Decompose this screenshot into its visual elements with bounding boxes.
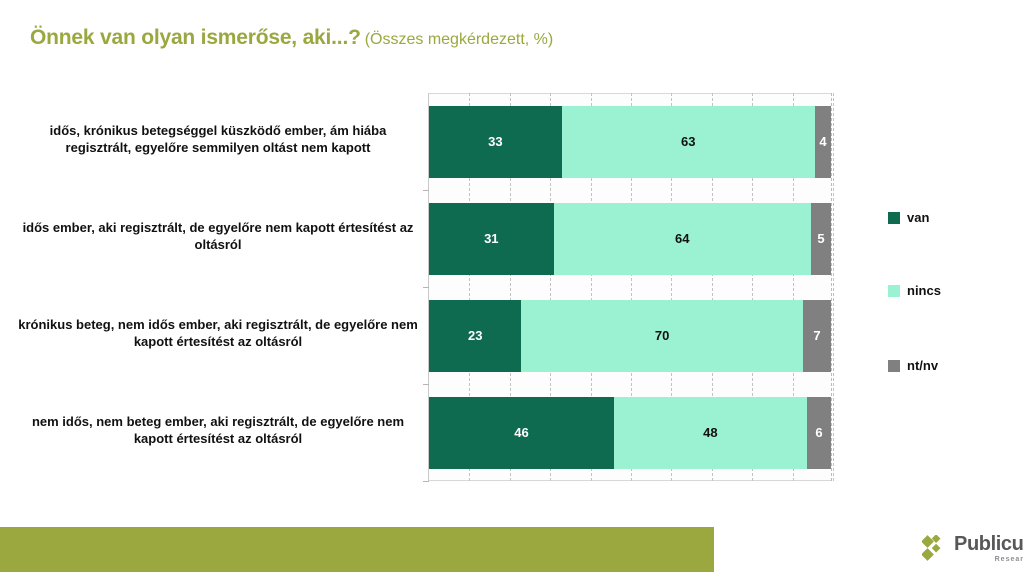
- bar-row[interactable]: 33634: [429, 106, 831, 178]
- gridline: [833, 93, 834, 481]
- bar-segment-nincs[interactable]: 64: [554, 203, 811, 275]
- category-label: idős ember, aki regisztrált, de egyelőre…: [18, 219, 418, 254]
- legend-item-nincs[interactable]: nincs: [888, 283, 941, 298]
- logo-tagline-text: Research: [954, 556, 1024, 563]
- publicus-logo: Publicus Research: [922, 534, 1024, 563]
- bar-row[interactable]: 23707: [429, 300, 831, 372]
- page-title: Önnek van olyan ismerőse, aki...?(Összes…: [30, 26, 553, 50]
- slide-canvas: Önnek van olyan ismerőse, aki...?(Összes…: [0, 0, 1024, 572]
- category-label: nem idős, nem beteg ember, aki regisztrá…: [18, 413, 418, 448]
- bar-segment-nincs[interactable]: 63: [562, 106, 815, 178]
- category-axis-labels: idős, krónikus betegséggel küszködő embe…: [18, 88, 418, 488]
- bar-segment-nt-nv[interactable]: 5: [811, 203, 831, 275]
- legend-swatch-icon: [888, 212, 900, 224]
- bar-segment-nt-nv[interactable]: 7: [803, 300, 831, 372]
- category-label: krónikus beteg, nem idős ember, aki regi…: [18, 316, 418, 351]
- legend-swatch-icon: [888, 360, 900, 372]
- category-label: idős, krónikus betegséggel küszködő embe…: [18, 122, 418, 157]
- bar-segment-van[interactable]: 33: [429, 106, 562, 178]
- category-tick: [423, 384, 429, 385]
- diamond-cluster-icon: [922, 535, 948, 563]
- legend-label: nincs: [907, 283, 941, 298]
- logo-name-text: Publicus: [954, 534, 1024, 554]
- bar-segment-nt-nv[interactable]: 4: [815, 106, 831, 178]
- logo-wordmark: Publicus Research: [954, 534, 1024, 563]
- category-tick: [423, 287, 429, 288]
- legend-label: van: [907, 210, 929, 225]
- bar-row[interactable]: 46486: [429, 397, 831, 469]
- category-tick: [423, 481, 429, 482]
- title-subtitle-text: (Összes megkérdezett, %): [365, 31, 554, 48]
- category-tick: [423, 190, 429, 191]
- legend-item-van[interactable]: van: [888, 210, 929, 225]
- bar-segment-nincs[interactable]: 70: [521, 300, 802, 372]
- bar-segment-van[interactable]: 46: [429, 397, 614, 469]
- chart-legend: vannincsnt/nv: [888, 88, 1018, 488]
- plot-area: 33634316452370746486: [428, 93, 832, 481]
- stacked-bar-chart: idős, krónikus betegséggel küszködő embe…: [0, 88, 1024, 508]
- legend-label: nt/nv: [907, 358, 938, 373]
- title-main-text: Önnek van olyan ismerőse, aki...?: [30, 26, 361, 49]
- footer-color-bar: [0, 527, 714, 572]
- legend-swatch-icon: [888, 285, 900, 297]
- bar-segment-van[interactable]: 31: [429, 203, 554, 275]
- bar-segment-nincs[interactable]: 48: [614, 397, 807, 469]
- bar-segment-van[interactable]: 23: [429, 300, 521, 372]
- bar-row[interactable]: 31645: [429, 203, 831, 275]
- legend-item-nt-nv[interactable]: nt/nv: [888, 358, 938, 373]
- bar-segment-nt-nv[interactable]: 6: [807, 397, 831, 469]
